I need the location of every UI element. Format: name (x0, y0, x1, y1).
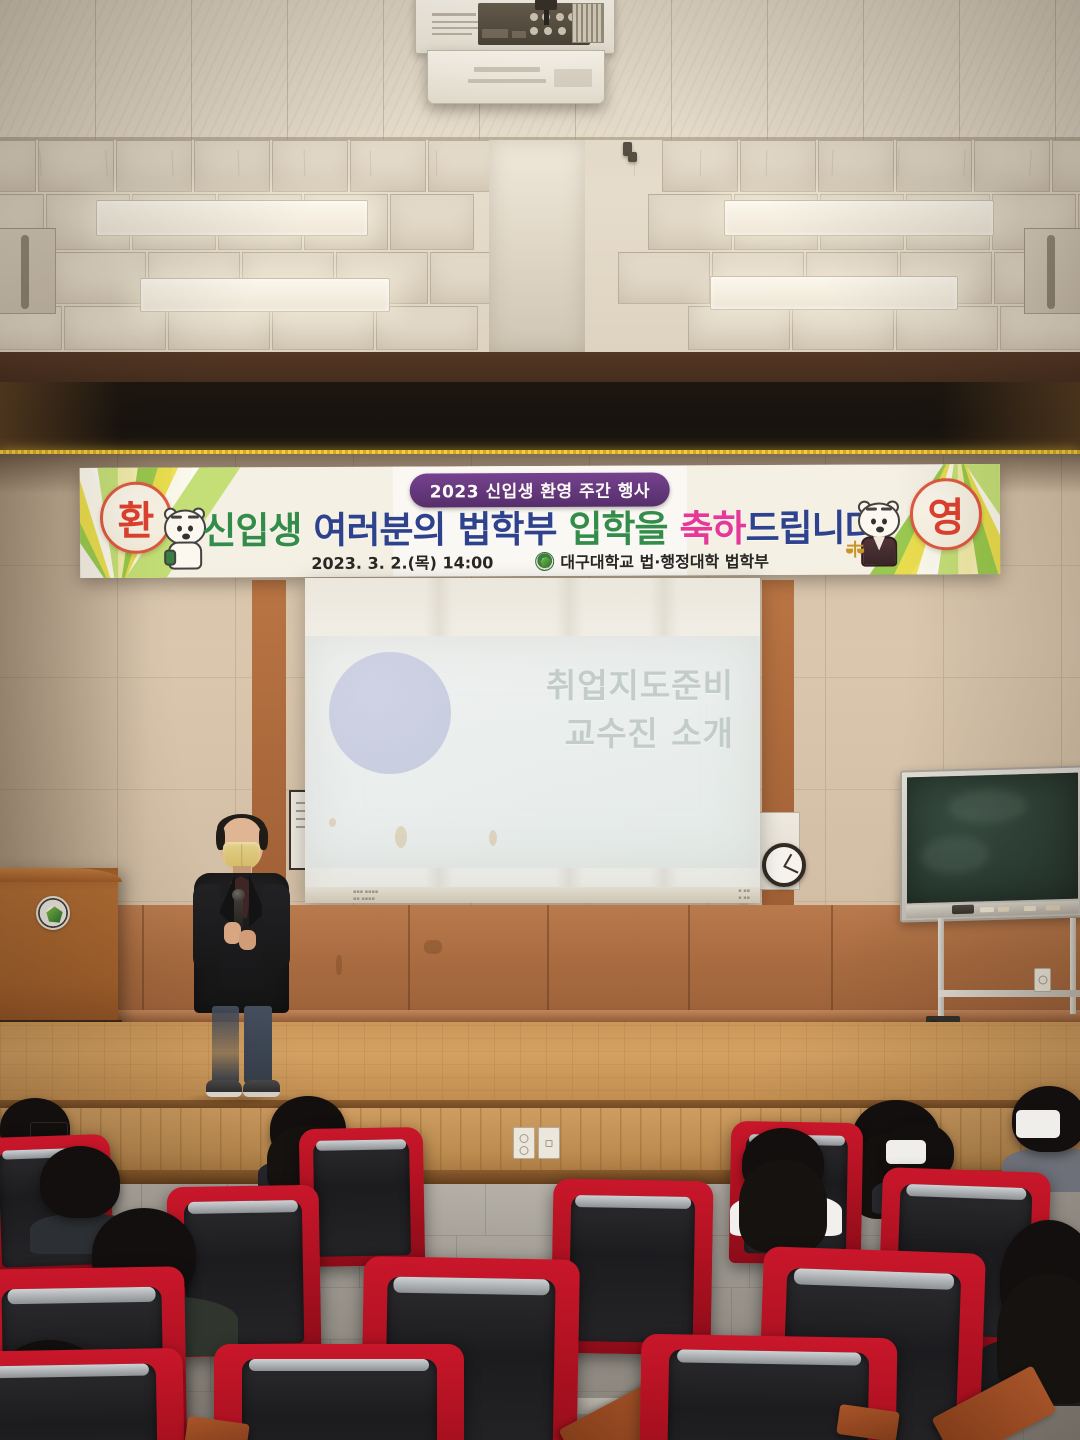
stage-power-outlet[interactable] (513, 1127, 535, 1159)
speaker-shoe (206, 1080, 242, 1097)
ceiling-tile (818, 140, 894, 192)
chalk-tray (906, 901, 1079, 919)
lectern-podium (0, 868, 118, 1034)
screen-small-text: ▪▪▪ ▪▪▪▪▪▪ ▪▪▪▪ (353, 889, 378, 903)
tiger-eye (882, 518, 887, 524)
projector-port (530, 27, 538, 35)
ceiling-tile (168, 306, 270, 350)
headline-part-2: 여러분의 법학부 (313, 508, 556, 552)
screen-stain (329, 818, 336, 827)
proscenium-wood-trim (0, 352, 1080, 384)
blackboard-leg (1070, 918, 1076, 1014)
chalk-smudge (948, 789, 1027, 824)
seat-chrome-trim (394, 1277, 550, 1296)
speaker-presenter (186, 818, 296, 1103)
ceiling-tile (1052, 140, 1080, 192)
organization-name: 대구대학교 법·행정대학 법학부 (560, 548, 769, 573)
projector-port (544, 27, 552, 35)
screen-upper-blank (305, 578, 760, 636)
speaker-shoe (243, 1080, 280, 1097)
projector-power-plug (535, 0, 557, 10)
ceiling-tile (350, 140, 426, 192)
projector-label (432, 13, 476, 16)
projector-port (556, 13, 564, 21)
ceiling-tile (116, 140, 192, 192)
ceiling-tile (0, 0, 96, 140)
tiger-head (858, 502, 900, 538)
wainscot-seam (547, 905, 549, 1023)
projector-lens-area (554, 69, 592, 87)
seat-chrome-trim (7, 1287, 156, 1305)
university-logo-icon (535, 551, 554, 570)
blackboard-surface[interactable] (907, 773, 1078, 904)
ceiling-tile (960, 0, 1056, 140)
ceiling-tile (740, 140, 816, 192)
speaker-jeans-leg (244, 1006, 272, 1084)
projector-label (432, 27, 482, 29)
air-vent-icon (0, 228, 56, 314)
ceiling-tile (974, 140, 1050, 192)
organization-group: 대구대학교 법·행정대학 법학부 (535, 548, 769, 573)
projector-seam (474, 67, 540, 72)
headline-part-3: 입학을 (568, 507, 667, 550)
ceiling-light-panel (710, 276, 958, 310)
ceiling-tile (618, 252, 710, 304)
blackboard-frame (900, 765, 1080, 922)
speaker-jeans-leg (212, 1006, 239, 1084)
event-datetime: 2023. 3. 2.(목) 14:00 (311, 549, 493, 574)
ceiling-tile (96, 0, 192, 140)
valance-light-glow (0, 382, 120, 454)
ceiling-light-panel (96, 200, 368, 236)
mobile-blackboard[interactable] (900, 768, 1080, 1030)
ceiling-tile (896, 306, 998, 350)
chalk-stick[interactable] (1046, 905, 1060, 910)
chalk-stick[interactable] (980, 907, 994, 912)
scales-of-justice-icon (846, 541, 864, 561)
ceiling-tile (192, 0, 288, 140)
auditorium-photo: 환 2023 신입생 환영 주간 행사 신입생 여러분의 법학부 입학을 축하드… (0, 0, 1080, 1440)
ceiling-recess-gap (489, 140, 585, 352)
chalk-smudge (921, 836, 989, 876)
wainscot-seam (831, 905, 833, 1023)
ceiling-tile (64, 306, 166, 350)
projector-label (432, 33, 472, 35)
projector-top-housing (415, 0, 615, 54)
wainscot-seam (142, 905, 144, 1023)
air-vent-icon (1024, 228, 1080, 314)
speaker-hand (239, 930, 256, 950)
slide-title-line-1: 취업지도준비 (546, 662, 734, 710)
ceiling-tile (672, 0, 768, 140)
ceiling-light-panel (140, 278, 390, 312)
blackboard-crossbar (938, 990, 1080, 997)
audience-face-mask (1016, 1110, 1060, 1138)
seat-back-shell (568, 1195, 695, 1343)
ceiling-tile (648, 194, 732, 250)
tiger-mascot-judge (850, 496, 910, 566)
ceiling-tile (376, 306, 478, 350)
ceiling-tile (390, 194, 474, 250)
auditorium-seat[interactable] (0, 1348, 185, 1440)
wainscot-stain (424, 940, 442, 954)
audience-face-mask (886, 1140, 926, 1164)
seat-chrome-trim (249, 1359, 429, 1371)
slide-decorative-circle (329, 652, 451, 774)
ceiling-tile (0, 140, 36, 192)
headline-part-4: 축하 (679, 507, 745, 550)
chalk-stick[interactable] (998, 907, 1009, 912)
slide-title-block: 취업지도준비 교수진 소개 (546, 662, 734, 758)
wall-clock (762, 843, 806, 887)
ceiling-tile (1056, 0, 1080, 140)
wall-tile (1062, 566, 1080, 678)
tiger-nose (876, 526, 884, 532)
projector-hdmi-slot (512, 31, 526, 38)
speaker-arm (193, 884, 220, 970)
audience-head (40, 1146, 120, 1218)
medal-yeong: 영 (910, 478, 982, 550)
projector-body (427, 50, 605, 104)
ceiling-tile (272, 306, 374, 350)
ceiling-projector (407, 0, 623, 104)
speaker-wristwatch (261, 930, 275, 938)
auditorium-seat[interactable] (214, 1344, 464, 1440)
ceiling-tile (194, 140, 270, 192)
university-emblem-icon (36, 896, 70, 930)
ceiling-tile (768, 0, 864, 140)
speaker-hair-side (259, 826, 268, 850)
ceiling-tile (38, 140, 114, 192)
wainscot-seam (688, 905, 690, 1023)
ceiling-sensor (628, 152, 637, 162)
seat-back-shell (313, 1140, 412, 1258)
screen-stain (395, 826, 407, 848)
blackboard-leg (938, 918, 944, 1020)
wainscot-stain (336, 955, 342, 975)
welcome-banner: 환 2023 신입생 환영 주간 행사 신입생 여러분의 법학부 입학을 축하드… (80, 464, 1000, 578)
wall-tile (944, 566, 1062, 678)
ceiling-tile (272, 140, 348, 192)
stage-valance (0, 382, 1080, 454)
valance-light-glow (940, 382, 1080, 454)
projected-slide: 취업지도준비 교수진 소개 (307, 636, 758, 868)
seat-chrome-trim (316, 1140, 405, 1151)
projector-port (558, 27, 566, 35)
seat-chrome-trim (188, 1200, 298, 1214)
speaker-arm (262, 884, 290, 970)
projection-screen: 취업지도준비 교수진 소개 ▪▪▪ ▪▪▪▪▪▪ ▪▪▪▪ ▪ ▪▪▪ ▪▪▪▪… (305, 578, 760, 903)
stage-switch-plate[interactable] (538, 1127, 560, 1159)
ceiling-tile (54, 252, 146, 304)
ceiling-tile (864, 0, 960, 140)
projector-vent-icon (572, 3, 604, 43)
seat-chrome-trim (575, 1195, 690, 1209)
audience-long-hair (739, 1160, 827, 1252)
blackboard-eraser[interactable] (952, 905, 974, 915)
ceiling-tile (792, 306, 894, 350)
wainscot-seam (408, 905, 410, 1023)
seat-back-shell (242, 1359, 437, 1440)
tiger-eye (871, 519, 876, 525)
tiger-stripe (881, 507, 892, 510)
projector-seam (468, 79, 546, 83)
chalk-stick[interactable] (1024, 906, 1036, 911)
wall-tile (826, 566, 944, 678)
ceiling-tile (688, 306, 790, 350)
screen-stain (489, 830, 497, 846)
ceiling-tile (288, 0, 384, 140)
screen-bottom-weight-bar: ▪▪▪ ▪▪▪▪▪▪ ▪▪▪▪ ▪ ▪▪▪ ▪▪▪▪▪ (305, 887, 760, 903)
headline-part-1: 신입생 (202, 509, 301, 552)
speaker-face-mask (223, 842, 260, 869)
ceiling-tile (896, 140, 972, 192)
slide-title-line-2: 교수진 소개 (546, 710, 734, 758)
ceiling-light-panel (724, 200, 994, 236)
tiger-stripe (866, 508, 877, 511)
wall-power-outlet[interactable] (1034, 968, 1051, 992)
